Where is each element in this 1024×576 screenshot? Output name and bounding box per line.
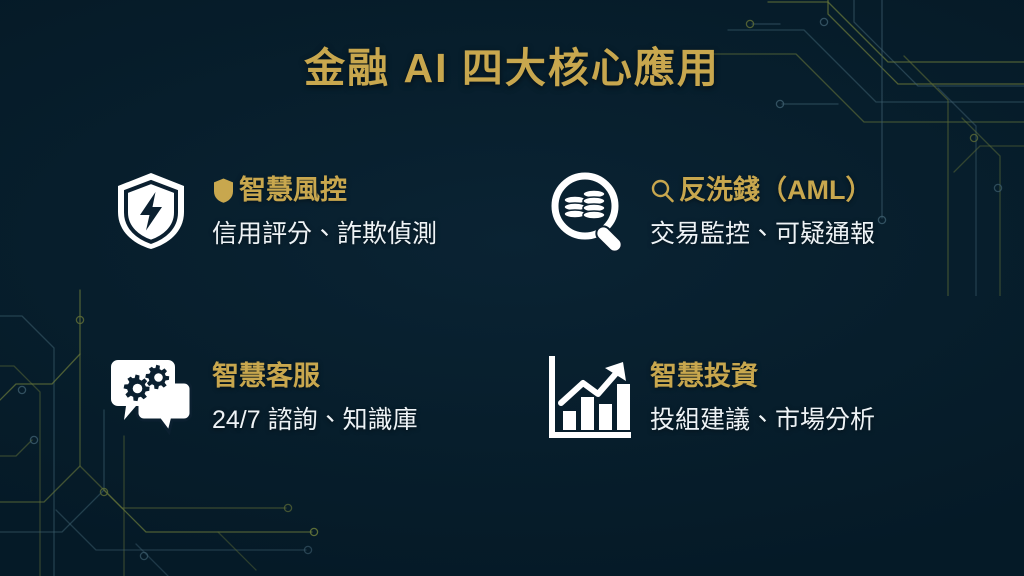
magnifier-glyph-icon bbox=[650, 178, 675, 203]
slide-title-container: 金融 AI 四大核心應用 bbox=[0, 44, 1024, 93]
card-title-text: 智慧投資 bbox=[650, 360, 758, 394]
feature-card-risk-control: 智慧風控 信用評分、詐欺偵測 bbox=[108, 162, 538, 348]
feature-grid: 智慧風控 信用評分、詐欺偵測 bbox=[108, 162, 938, 534]
card-text-risk-control: 智慧風控 信用評分、詐欺偵測 bbox=[212, 162, 437, 250]
chat-gears-icon bbox=[108, 348, 194, 440]
card-title-smart-investing: 智慧投資 bbox=[650, 360, 875, 394]
feature-card-customer-service: 智慧客服 24/7 諮詢、知識庫 bbox=[108, 348, 538, 534]
card-title-text: 智慧風控 bbox=[239, 174, 347, 208]
card-title-risk-control: 智慧風控 bbox=[212, 174, 437, 208]
card-text-customer-service: 智慧客服 24/7 諮詢、知識庫 bbox=[212, 348, 418, 436]
shield-glyph-icon bbox=[212, 177, 235, 204]
card-text-aml: 反洗錢（AML） 交易監控、可疑通報 bbox=[650, 162, 875, 250]
card-title-text: 智慧客服 bbox=[212, 360, 320, 394]
shield-lightning-icon bbox=[108, 162, 194, 254]
card-title-aml: 反洗錢（AML） bbox=[650, 174, 875, 208]
feature-card-aml: 反洗錢（AML） 交易監控、可疑通報 bbox=[538, 162, 938, 348]
page-title: 金融 AI 四大核心應用 bbox=[0, 44, 1024, 93]
card-desc-aml: 交易監控、可疑通報 bbox=[650, 218, 875, 251]
card-text-smart-investing: 智慧投資 投組建議、市場分析 bbox=[650, 348, 875, 436]
bar-chart-arrow-icon bbox=[546, 348, 632, 440]
card-desc-risk-control: 信用評分、詐欺偵測 bbox=[212, 218, 437, 251]
card-desc-customer-service: 24/7 諮詢、知識庫 bbox=[212, 404, 418, 437]
magnifier-coins-icon bbox=[546, 162, 632, 254]
card-title-customer-service: 智慧客服 bbox=[212, 360, 418, 394]
card-desc-smart-investing: 投組建議、市場分析 bbox=[650, 404, 875, 437]
slide-canvas: 金融 AI 四大核心應用 智慧風控 bbox=[0, 0, 1024, 576]
feature-card-smart-investing: 智慧投資 投組建議、市場分析 bbox=[538, 348, 938, 534]
card-title-text: 反洗錢（AML） bbox=[679, 174, 872, 208]
